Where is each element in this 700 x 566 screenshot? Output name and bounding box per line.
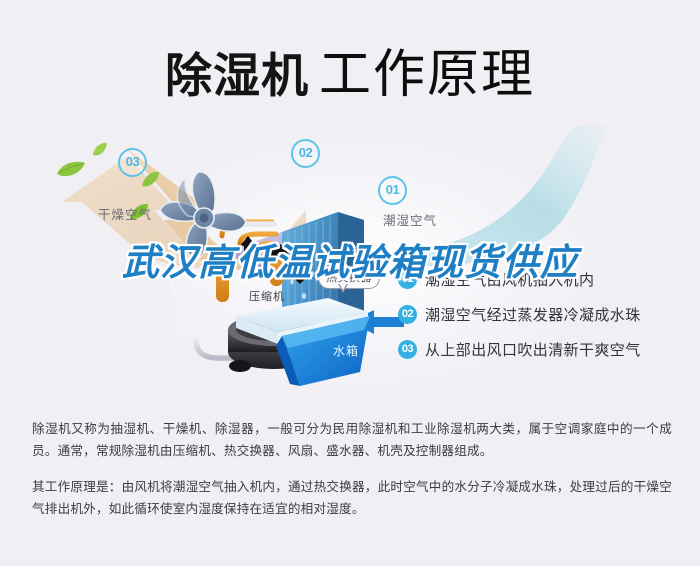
label-compressor: 压缩机 <box>249 288 285 304</box>
legend-text-02: 潮湿空气经过蒸发器冷凝成水珠 <box>425 304 641 325</box>
legend-badge-02: 02 <box>398 305 417 324</box>
callout-tail-icon <box>338 284 348 293</box>
label-moist-air: 潮湿空气 <box>383 210 437 229</box>
label-dry-air: 干燥空气 <box>98 204 152 223</box>
watermark-text: 武汉高低温试验箱现货供应 <box>0 243 700 283</box>
page-title-part1: 除湿机 <box>165 49 309 102</box>
description-paragraph-2: 其工作原理是：由风机将潮湿空气抽入机内，通过热交换器，此时空气中的水分子冷凝成水… <box>32 476 672 520</box>
badge-heat-exchanger: 02 <box>291 139 320 168</box>
badge-moist-air: 01 <box>378 176 407 205</box>
leaf-icon <box>56 160 86 180</box>
label-water-tank: 水箱 <box>333 342 359 359</box>
leaf-icon <box>91 142 108 158</box>
legend-text-03: 从上部出风口吹出清新干爽空气 <box>425 339 641 360</box>
description-paragraph-1: 除湿机又称为抽湿机、干燥机、除湿器，一般可分为民用除湿机和工业除湿机两大类，属于… <box>32 418 672 462</box>
legend-badge-03: 03 <box>398 340 417 359</box>
legend-item: 02 潮湿空气经过蒸发器冷凝成水珠 <box>398 297 693 332</box>
legend-item: 03 从上部出风口吹出清新干爽空气 <box>398 332 693 367</box>
description-block: 除湿机又称为抽湿机、干燥机、除湿器，一般可分为民用除湿机和工业除湿机两大类，属于… <box>32 418 672 520</box>
page-title: 除湿机工作原理 <box>0 32 700 107</box>
page-title-part2: 工作原理 <box>319 46 535 104</box>
dehumidifier-infographic: 除湿机工作原理 <box>0 0 700 566</box>
badge-dry-air: 03 <box>118 148 147 177</box>
